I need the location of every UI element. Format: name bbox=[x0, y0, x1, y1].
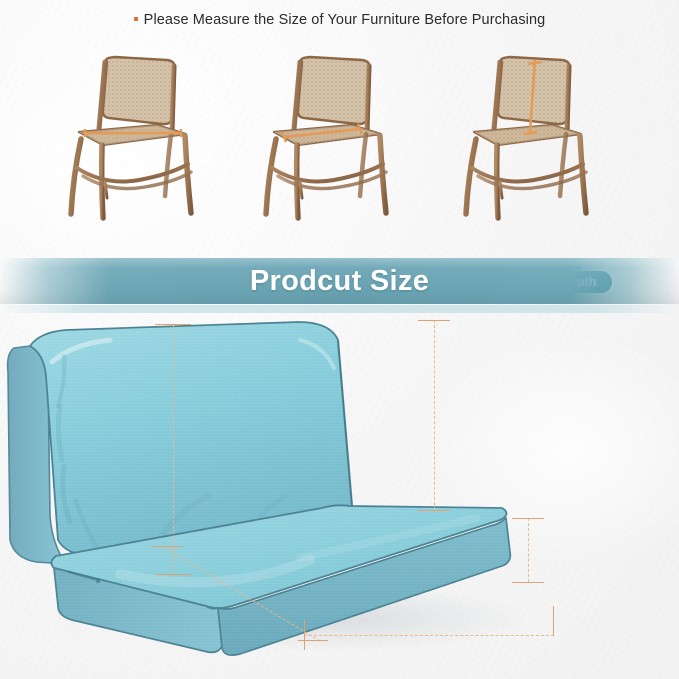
dimension-line-21 bbox=[434, 320, 435, 510]
dimension-tick-6-top bbox=[512, 518, 544, 519]
square-bullet-icon bbox=[134, 17, 138, 21]
section-banner: Prodcut Size bbox=[0, 258, 679, 310]
chair-comparison-row: Width bbox=[0, 46, 679, 246]
chair-width: Width bbox=[45, 46, 245, 246]
chair-illustration bbox=[45, 46, 245, 246]
chair-illustration bbox=[240, 46, 440, 246]
header-instruction-text: Please Measure the Size of Your Furnitur… bbox=[144, 12, 546, 28]
dimension-tick-24-width-left bbox=[304, 620, 305, 650]
product-size-infographic: Please Measure the Size of Your Furnitur… bbox=[0, 0, 679, 679]
dimension-line-24-width bbox=[304, 635, 554, 636]
dimension-tick-24-width-right bbox=[553, 606, 554, 636]
chair-illustration bbox=[440, 46, 640, 246]
dimension-line-6 bbox=[528, 518, 529, 582]
chair-depth: Depth bbox=[240, 46, 440, 246]
dimension-tick-27-bottom bbox=[155, 574, 191, 575]
dimension-tick-24-depth-start bbox=[152, 546, 182, 547]
dimension-tick-21-bottom bbox=[418, 510, 450, 511]
chair-height: Height bbox=[440, 46, 640, 246]
dimension-tick-21-top bbox=[418, 320, 450, 321]
banner-title: Prodcut Size bbox=[0, 258, 679, 304]
dimension-tick-6-bottom bbox=[512, 582, 544, 583]
header-instruction: Please Measure the Size of Your Furnitur… bbox=[0, 12, 679, 28]
cushion-set-illustration bbox=[0, 310, 679, 679]
product-stage: 27" 21" 24 " 24" 6" 6 Inches bbox=[0, 310, 679, 679]
dimension-tick-27-top bbox=[155, 324, 191, 325]
dimension-tick-24-depth-end bbox=[298, 640, 328, 641]
dimension-line-27 bbox=[173, 324, 174, 574]
